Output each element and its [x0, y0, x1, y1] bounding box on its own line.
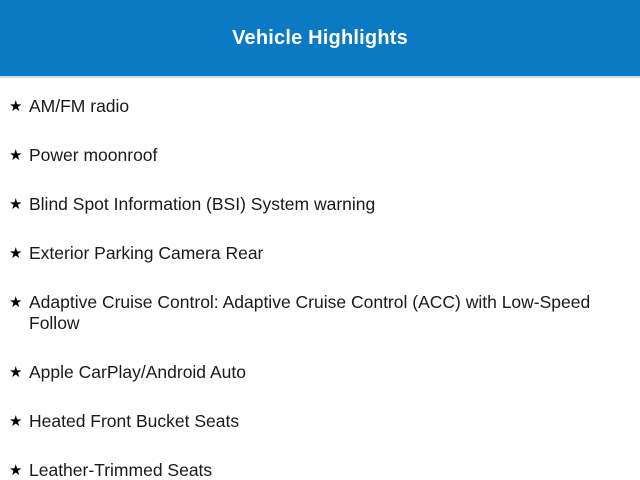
vehicle-highlights-list: ★ AM/FM radio ★ Power moonroof ★ Blind S… [0, 78, 640, 480]
vehicle-highlights-panel: Vehicle Highlights ★ AM/FM radio ★ Power… [0, 0, 640, 480]
page-title: Vehicle Highlights [232, 28, 408, 48]
star-icon: ★ [9, 292, 29, 313]
star-icon: ★ [9, 411, 29, 432]
list-item-label: Power moonroof [29, 145, 626, 166]
star-icon: ★ [9, 243, 29, 264]
star-icon: ★ [9, 362, 29, 383]
list-item-label: Leather-Trimmed Seats [29, 460, 626, 480]
star-icon: ★ [9, 194, 29, 215]
list-item: ★ AM/FM radio [0, 96, 640, 117]
list-item-label: Adaptive Cruise Control: Adaptive Cruise… [29, 292, 626, 334]
panel-header: Vehicle Highlights [0, 0, 640, 78]
star-icon: ★ [9, 460, 29, 480]
list-item: ★ Exterior Parking Camera Rear [0, 243, 640, 264]
list-item-label: Blind Spot Information (BSI) System warn… [29, 194, 626, 215]
list-item: ★ Adaptive Cruise Control: Adaptive Crui… [0, 292, 640, 334]
star-icon: ★ [9, 145, 29, 166]
list-item: ★ Apple CarPlay/Android Auto [0, 362, 640, 383]
list-item: ★ Blind Spot Information (BSI) System wa… [0, 194, 640, 215]
list-item: ★ Heated Front Bucket Seats [0, 411, 640, 432]
list-item-label: Apple CarPlay/Android Auto [29, 362, 626, 383]
list-item-label: Exterior Parking Camera Rear [29, 243, 626, 264]
list-item-label: Heated Front Bucket Seats [29, 411, 626, 432]
list-item-label: AM/FM radio [29, 96, 626, 117]
list-item: ★ Leather-Trimmed Seats [0, 460, 640, 480]
star-icon: ★ [9, 96, 29, 117]
list-item: ★ Power moonroof [0, 145, 640, 166]
